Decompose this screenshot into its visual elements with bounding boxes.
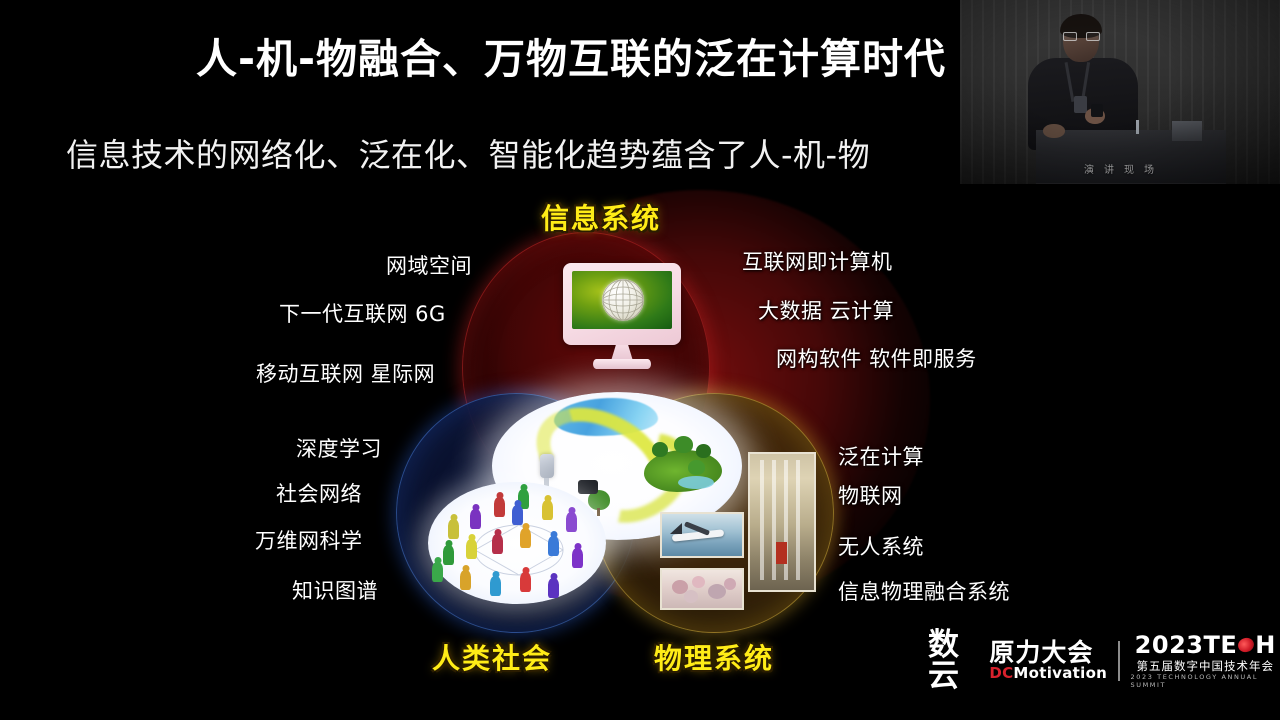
globe-wireframe-icon bbox=[602, 279, 644, 321]
conference-logo: 数云 原力大会 DCMotivation 2023TEH 第五届数字中国技术年会… bbox=[928, 632, 1280, 690]
tree-icon bbox=[688, 460, 705, 475]
logo-summit-cn: 第五届数字中国技术年会 bbox=[1137, 659, 1275, 673]
computer-monitor-icon bbox=[563, 263, 681, 345]
person-figure-icon bbox=[566, 512, 577, 532]
person-figure-icon bbox=[492, 534, 503, 554]
airplane-tail bbox=[670, 523, 682, 534]
person-figure-icon bbox=[542, 500, 553, 520]
tree-icon bbox=[652, 442, 668, 457]
annotation-society-1: 深度学习 bbox=[296, 433, 382, 463]
logo-tech-pre: TE bbox=[1203, 633, 1237, 657]
monitor-base bbox=[593, 359, 651, 369]
water-pond-shape bbox=[678, 476, 714, 489]
person-figure-icon bbox=[470, 509, 481, 529]
annotation-info-left-3: 移动互联网 星际网 bbox=[256, 358, 435, 388]
annotation-physical-2: 物联网 bbox=[838, 480, 903, 510]
logo-dc-text: DC bbox=[989, 664, 1013, 682]
airplane-photo bbox=[660, 512, 744, 558]
annotation-info-left-1: 网域空间 bbox=[386, 250, 472, 280]
video-vignette bbox=[960, 0, 1280, 184]
person-figure-icon bbox=[494, 497, 505, 517]
annotation-info-right-2: 大数据 云计算 bbox=[758, 295, 894, 325]
person-figure-icon bbox=[520, 528, 531, 548]
logo-summit-en: 2023 TECHNOLOGY ANNUAL SUMMIT bbox=[1131, 673, 1280, 689]
tree-icon bbox=[674, 436, 693, 453]
venn-title-physical-system: 物理系统 bbox=[654, 637, 774, 677]
annotation-info-right-1: 互联网即计算机 bbox=[742, 246, 893, 276]
person-figure-icon bbox=[443, 545, 454, 565]
person-figure-icon bbox=[432, 562, 443, 582]
annotation-society-3: 万维网科学 bbox=[255, 525, 363, 555]
annotation-info-right-3: 网构软件 软件即服务 bbox=[776, 343, 977, 373]
annotation-info-left-2: 下一代互联网 6G bbox=[279, 298, 446, 328]
logo-year-tech: 2023TEH bbox=[1135, 633, 1276, 657]
person-figure-icon bbox=[548, 536, 559, 556]
logo-text-stack: 原力大会 DCMotivation bbox=[989, 640, 1107, 682]
venn-title-human-society: 人类社会 bbox=[432, 637, 552, 677]
person-figure-icon bbox=[466, 539, 477, 559]
venn-title-info-system: 信息系统 bbox=[541, 197, 661, 237]
person-figure-icon bbox=[520, 572, 531, 592]
microscopy-photo bbox=[660, 568, 744, 610]
annotation-physical-3: 无人系统 bbox=[838, 531, 924, 561]
tech-orb-icon bbox=[1236, 636, 1256, 654]
person-figure-icon bbox=[448, 519, 459, 539]
logo-divider bbox=[1118, 641, 1119, 681]
logo-brand-cn2: 原力大会 bbox=[989, 640, 1107, 666]
vehicle-icon bbox=[578, 480, 598, 494]
logo-year-text: 2023 bbox=[1135, 633, 1204, 657]
tree-icon bbox=[696, 444, 711, 458]
person-figure-icon bbox=[460, 570, 471, 590]
tree-trunk bbox=[597, 508, 600, 516]
skyscraper-photo bbox=[748, 452, 816, 592]
logo-motivation-text: Motivation bbox=[1013, 664, 1107, 682]
person-figure-icon bbox=[548, 578, 559, 598]
person-figure-icon bbox=[512, 505, 523, 525]
person-figure-icon bbox=[572, 548, 583, 568]
logo-brand-en: DCMotivation bbox=[989, 666, 1107, 682]
tower-accent bbox=[776, 542, 787, 564]
annotation-society-2: 社会网络 bbox=[276, 478, 362, 508]
monitor-screen bbox=[572, 271, 672, 329]
annotation-physical-1: 泛在计算 bbox=[838, 441, 924, 471]
person-figure-icon bbox=[490, 576, 501, 596]
annotation-society-4: 知识图谱 bbox=[292, 575, 378, 605]
mobile-phone-icon bbox=[540, 454, 554, 478]
annotation-physical-4: 信息物理融合系统 bbox=[838, 576, 1010, 606]
logo-tech-post: H bbox=[1255, 633, 1276, 657]
video-caption: 演 讲 现 场 bbox=[960, 161, 1280, 176]
globe-icon bbox=[602, 279, 644, 321]
logo-brand-cn: 数云 bbox=[928, 630, 985, 692]
slide-stage: 人-机-物融合、万物互联的泛在计算时代 信息技术的网络化、泛在化、智能化趋势蕴含… bbox=[0, 0, 1280, 720]
logo-summit-block: 2023TEH 第五届数字中国技术年会 2023 TECHNOLOGY ANNU… bbox=[1131, 633, 1280, 690]
speaker-video-overlay[interactable]: 演 讲 现 场 bbox=[960, 0, 1280, 184]
